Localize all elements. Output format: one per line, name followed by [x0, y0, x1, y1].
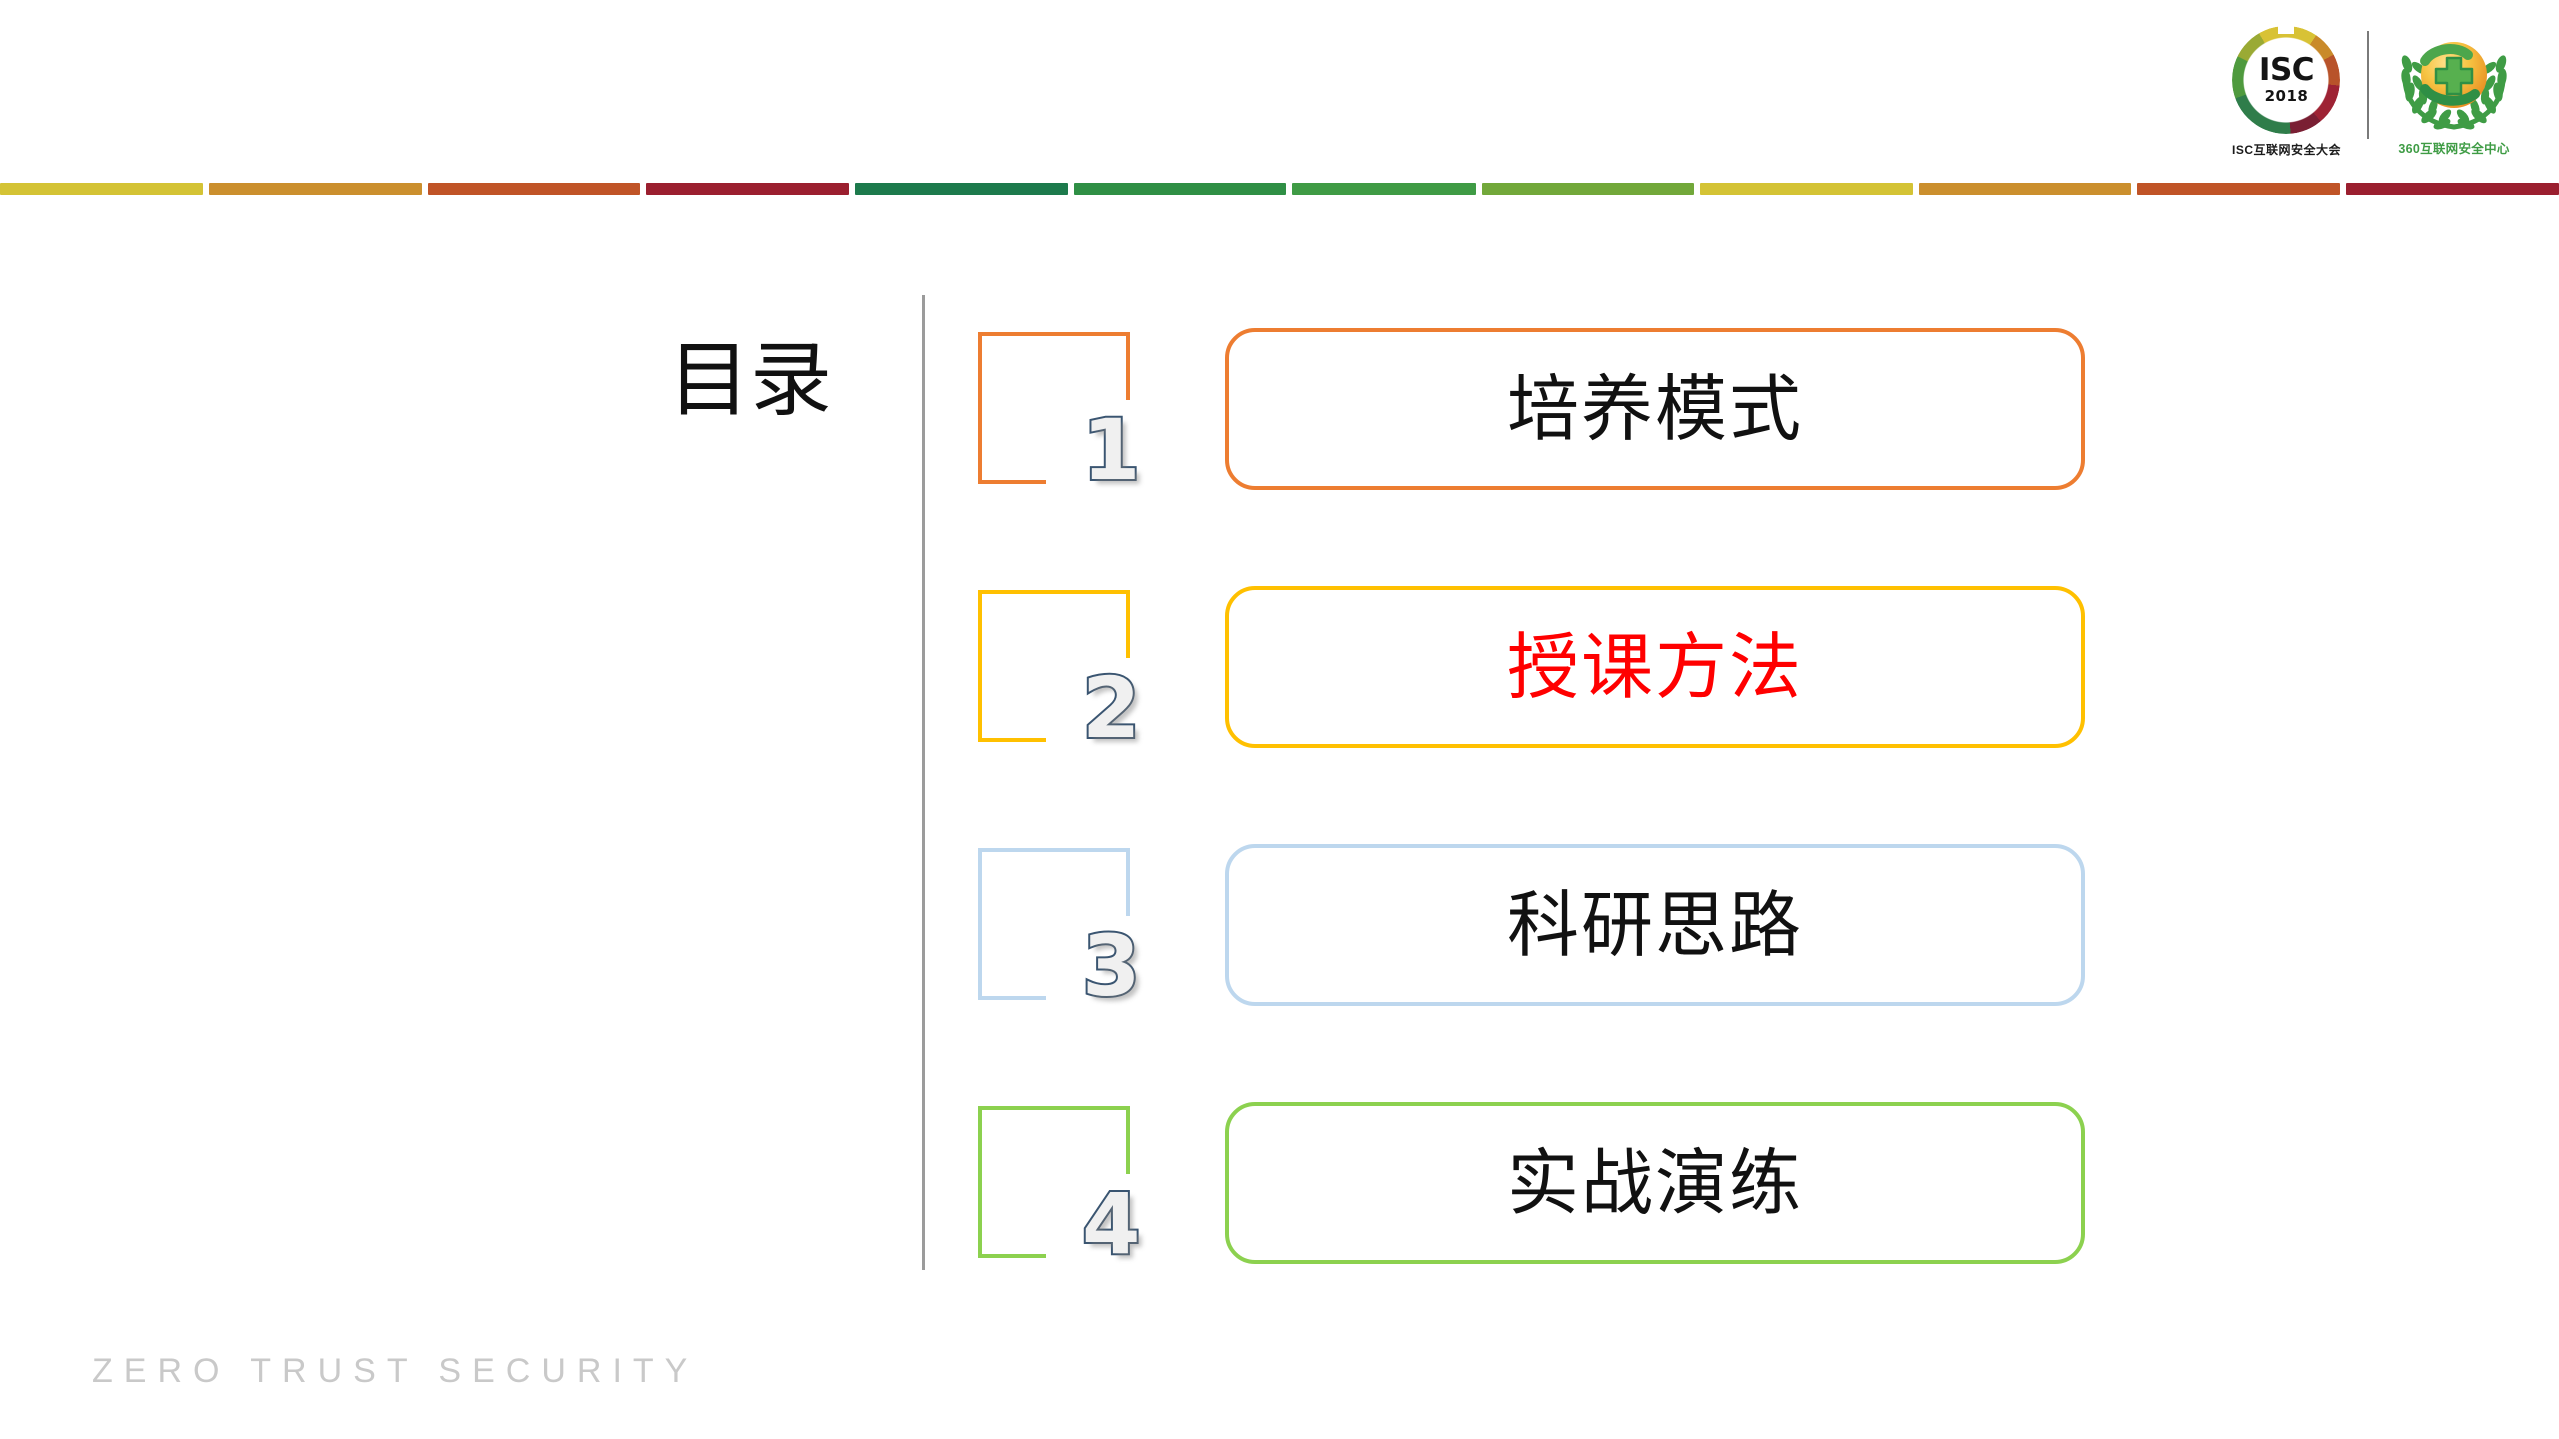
stripe-segment [2137, 183, 2340, 195]
toc-item-box[interactable]: 授课方法 [1225, 586, 2085, 748]
stripe-segment [855, 183, 1068, 195]
isc-ring-icon: ISC 2018 [2232, 26, 2340, 134]
toc-item-number: 1 [1082, 408, 1140, 492]
stripe-segment [1074, 183, 1287, 195]
toc-item-label: 培养模式 [1507, 373, 1803, 445]
toc-item-number: 4 [1082, 1182, 1140, 1266]
table-of-contents-list: 1培养模式2授课方法3科研思路4实战演练 [960, 320, 2150, 1294]
page-title: 目录 [600, 340, 900, 422]
toc-item[interactable]: 2授课方法 [960, 578, 2150, 778]
stripe-segment [428, 183, 641, 195]
header-logo-group: ISC 2018 ISC互联网安全大会 [2232, 14, 2513, 169]
toc-item-number: 3 [1082, 924, 1140, 1008]
isc-logo: ISC 2018 ISC互联网安全大会 [2232, 26, 2341, 158]
isc-logo-caption: ISC互联网安全大会 [2232, 141, 2341, 158]
stripe-segment [2346, 183, 2559, 195]
stripe-segment [1700, 183, 1913, 195]
toc-item-number: 2 [1082, 666, 1140, 750]
stripe-segment [209, 183, 422, 195]
stripe-segment [1919, 183, 2132, 195]
toc-item-label: 实战演练 [1507, 1147, 1803, 1219]
toc-item[interactable]: 3科研思路 [960, 836, 2150, 1036]
toc-item-box[interactable]: 培养模式 [1225, 328, 2085, 490]
isc-wordmark: ISC [2259, 55, 2314, 86]
org-logo: 360互联网安全中心 [2395, 27, 2513, 157]
stripe-segment [1482, 183, 1695, 195]
toc-item[interactable]: 4实战演练 [960, 1094, 2150, 1294]
toc-item[interactable]: 1培养模式 [960, 320, 2150, 520]
toc-item-box[interactable]: 科研思路 [1225, 844, 2085, 1006]
360-emblem-icon [2395, 27, 2513, 135]
stripe-segment [1292, 183, 1476, 195]
decorative-color-stripe [0, 183, 2559, 195]
stripe-segment [646, 183, 849, 195]
vertical-divider [922, 295, 925, 1270]
org-logo-caption: 360互联网安全中心 [2398, 138, 2509, 157]
footer-tagline: ZERO TRUST SECURITY [92, 1352, 698, 1391]
isc-year: 2018 [2259, 89, 2314, 104]
toc-item-label: 授课方法 [1507, 631, 1803, 703]
toc-item-label: 科研思路 [1507, 889, 1803, 961]
logo-divider [2367, 31, 2369, 139]
stripe-segment [0, 183, 203, 195]
toc-item-box[interactable]: 实战演练 [1225, 1102, 2085, 1264]
